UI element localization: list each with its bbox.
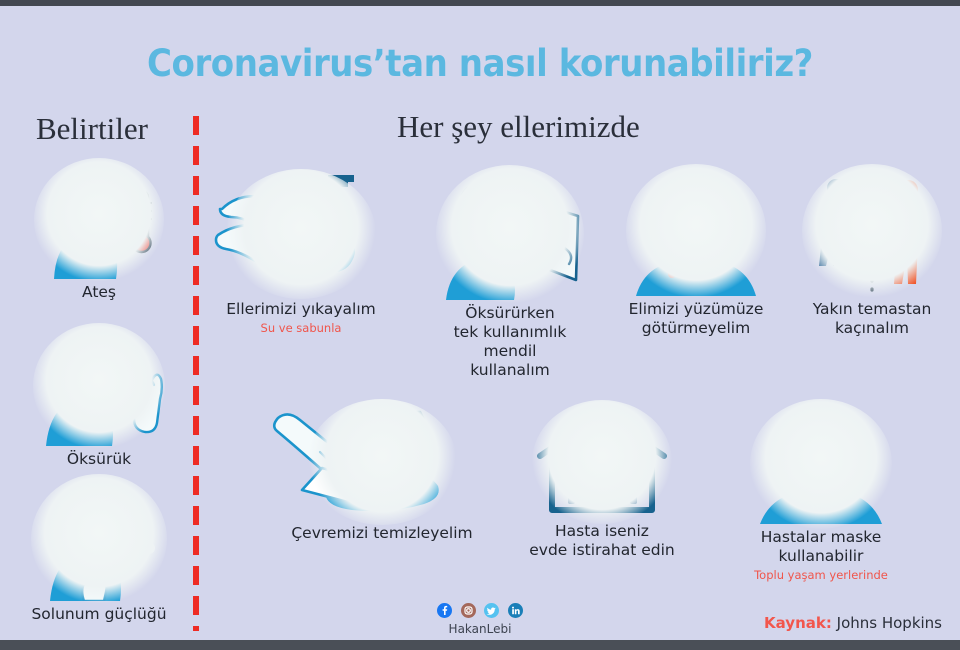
window-bottom-bar <box>0 640 960 650</box>
instagram-icon[interactable] <box>461 603 476 618</box>
source-credit: Kaynak: Johns Hopkins <box>764 614 942 632</box>
prevention-caption: Öksürürken tek kullanımlık mendil kullan… <box>420 304 600 380</box>
symptoms-heading: Belirtiler <box>36 111 148 147</box>
symptom-item-fever: Ateş <box>16 161 182 302</box>
prevention-subcaption: Toplu yaşam yerlerinde <box>726 568 916 582</box>
prevention-item-tissue: Öksürürken tek kullanımlık mendil kullan… <box>420 168 600 380</box>
symptom-item-cough: Öksürük <box>16 326 182 469</box>
page-title: Coronavirus’tan nasıl korunabiliriz? <box>38 42 921 85</box>
facebook-icon[interactable] <box>437 603 452 618</box>
prevention-item-handwash: Ellerimizi yıkayalım Su ve sabunla <box>206 171 396 335</box>
infographic-poster: Coronavirus’tan nasıl korunabiliriz? Bel… <box>0 6 960 640</box>
twitter-icon[interactable] <box>484 603 499 618</box>
prevention-item-mask: Hastalar maske kullanabilir Toplu yaşam … <box>726 404 916 582</box>
prevention-item-clean: Çevremizi temizleyelim <box>272 404 492 543</box>
symptom-caption: Öksürük <box>16 450 182 469</box>
prevention-caption: Hastalar maske kullanabilir <box>726 528 916 566</box>
section-divider <box>193 116 199 631</box>
prevention-item-distance: Yakın temastan kaçınalım <box>792 166 952 338</box>
prevention-caption: Yakın temastan kaçınalım <box>792 300 952 338</box>
prevention-item-stay-home: Hasta iseniz evde istirahat edin <box>512 406 692 560</box>
prevention-caption: Hasta iseniz evde istirahat edin <box>512 522 692 560</box>
prevention-caption: Ellerimizi yıkayalım <box>206 300 396 319</box>
linkedin-icon[interactable] <box>508 603 523 618</box>
source-label: Kaynak: <box>764 614 832 632</box>
prevention-subcaption: Su ve sabunla <box>206 321 396 335</box>
prevention-caption: Elimizi yüzümüze götürmeyelim <box>606 300 786 338</box>
symptom-caption: Ateş <box>16 283 182 302</box>
source-value: Johns Hopkins <box>837 614 942 632</box>
prevention-item-no-face-touch: Elimizi yüzümüze götürmeyelim <box>606 166 786 338</box>
prevention-caption: Çevremizi temizleyelim <box>272 524 492 543</box>
prevention-heading: Her şey ellerimizde <box>397 109 640 145</box>
